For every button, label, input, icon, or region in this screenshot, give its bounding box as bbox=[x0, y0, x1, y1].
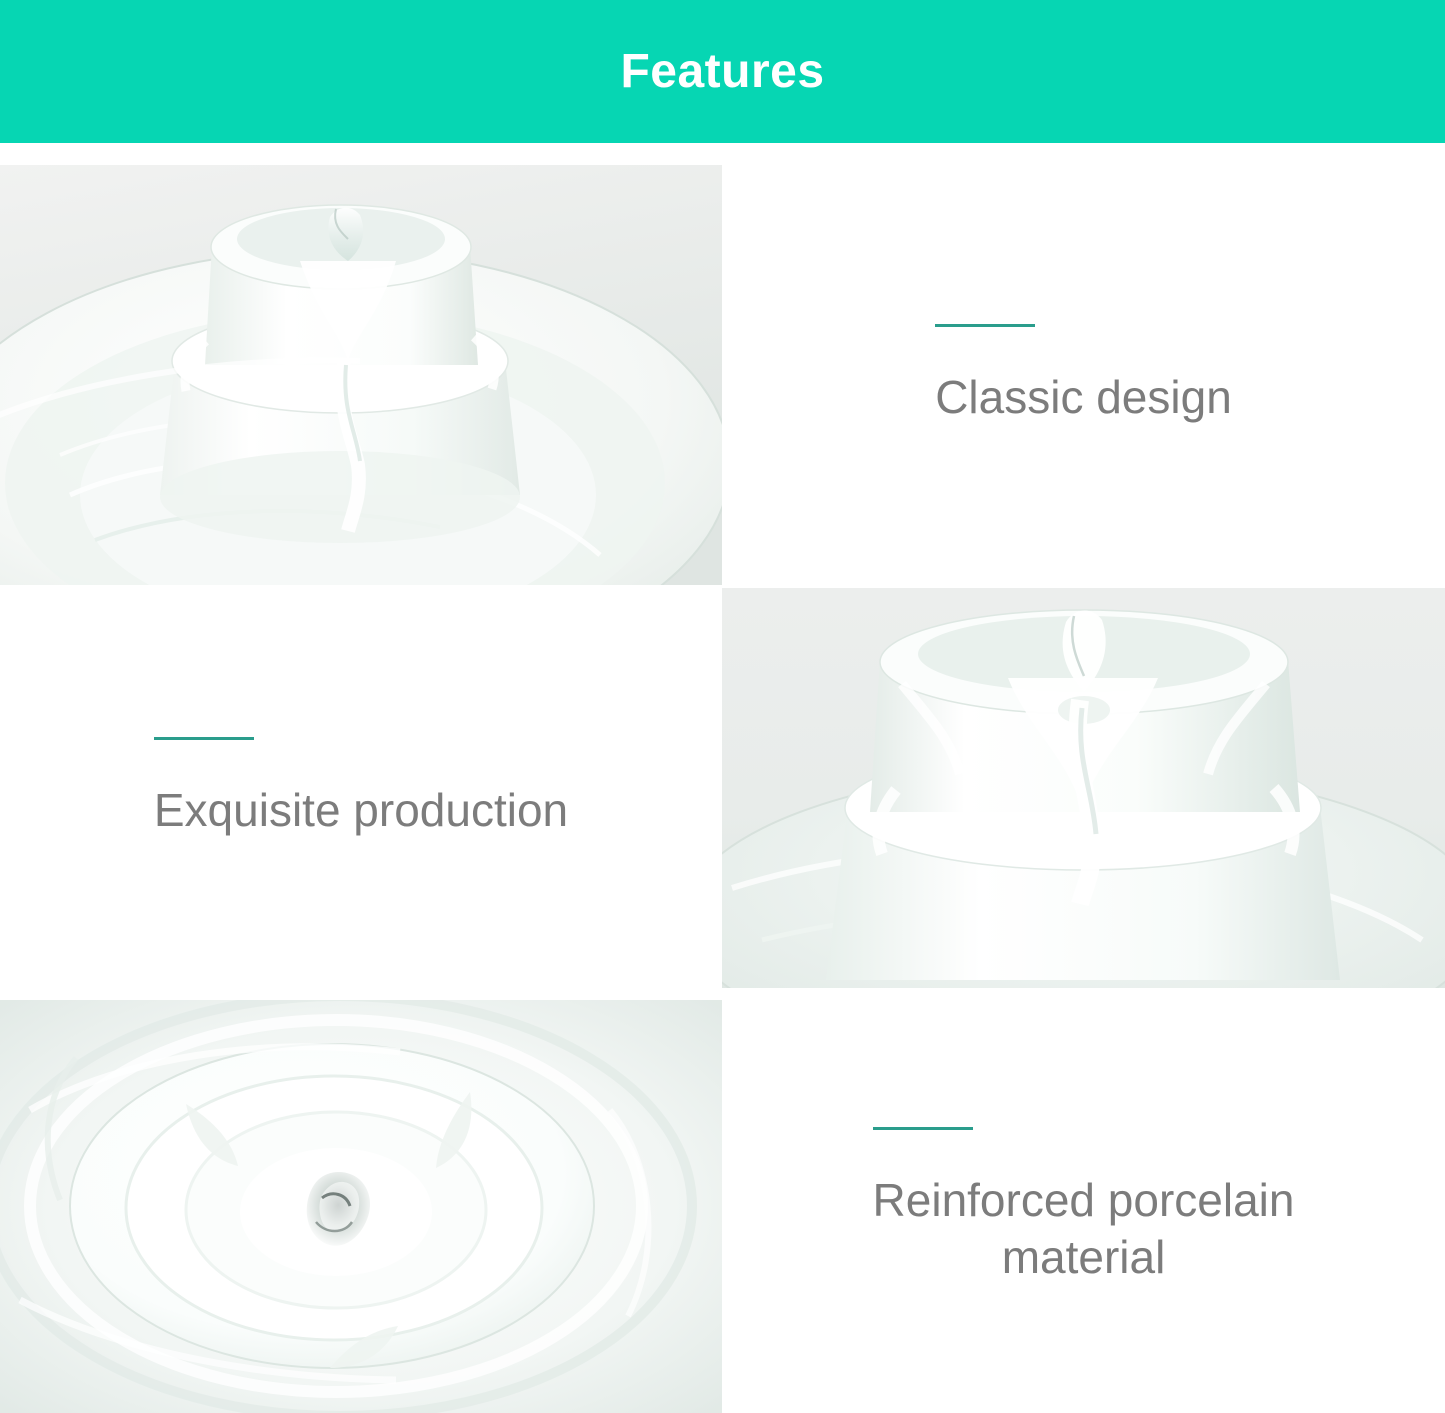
feature-text-classic-design: Classic design bbox=[722, 165, 1445, 585]
feature-photo-reinforced-porcelain bbox=[0, 1000, 722, 1413]
feature-text-reinforced-porcelain: Reinforced porcelain material bbox=[722, 1000, 1445, 1413]
feature-page: Features bbox=[0, 0, 1445, 1413]
fountain-side-view-image bbox=[0, 165, 722, 585]
fountain-top-view-image bbox=[0, 1000, 722, 1413]
fountain-tower-closeup-image bbox=[722, 588, 1445, 988]
feature-text-exquisite-production: Exquisite production bbox=[0, 588, 722, 988]
page-header: Features bbox=[0, 0, 1445, 143]
feature-label-classic-design: Classic design bbox=[935, 369, 1232, 427]
accent-rule-icon bbox=[873, 1127, 973, 1130]
accent-rule-icon bbox=[935, 324, 1035, 327]
feature-label-exquisite-production: Exquisite production bbox=[154, 782, 568, 840]
page-title: Features bbox=[620, 48, 824, 96]
feature-photo-classic-design bbox=[0, 165, 722, 585]
feature-label-reinforced-porcelain: Reinforced porcelain material bbox=[873, 1172, 1295, 1287]
accent-rule-icon bbox=[154, 737, 254, 740]
feature-photo-exquisite-production bbox=[722, 588, 1445, 988]
feature-grid: Classic design Exquisite production bbox=[0, 165, 1445, 1413]
